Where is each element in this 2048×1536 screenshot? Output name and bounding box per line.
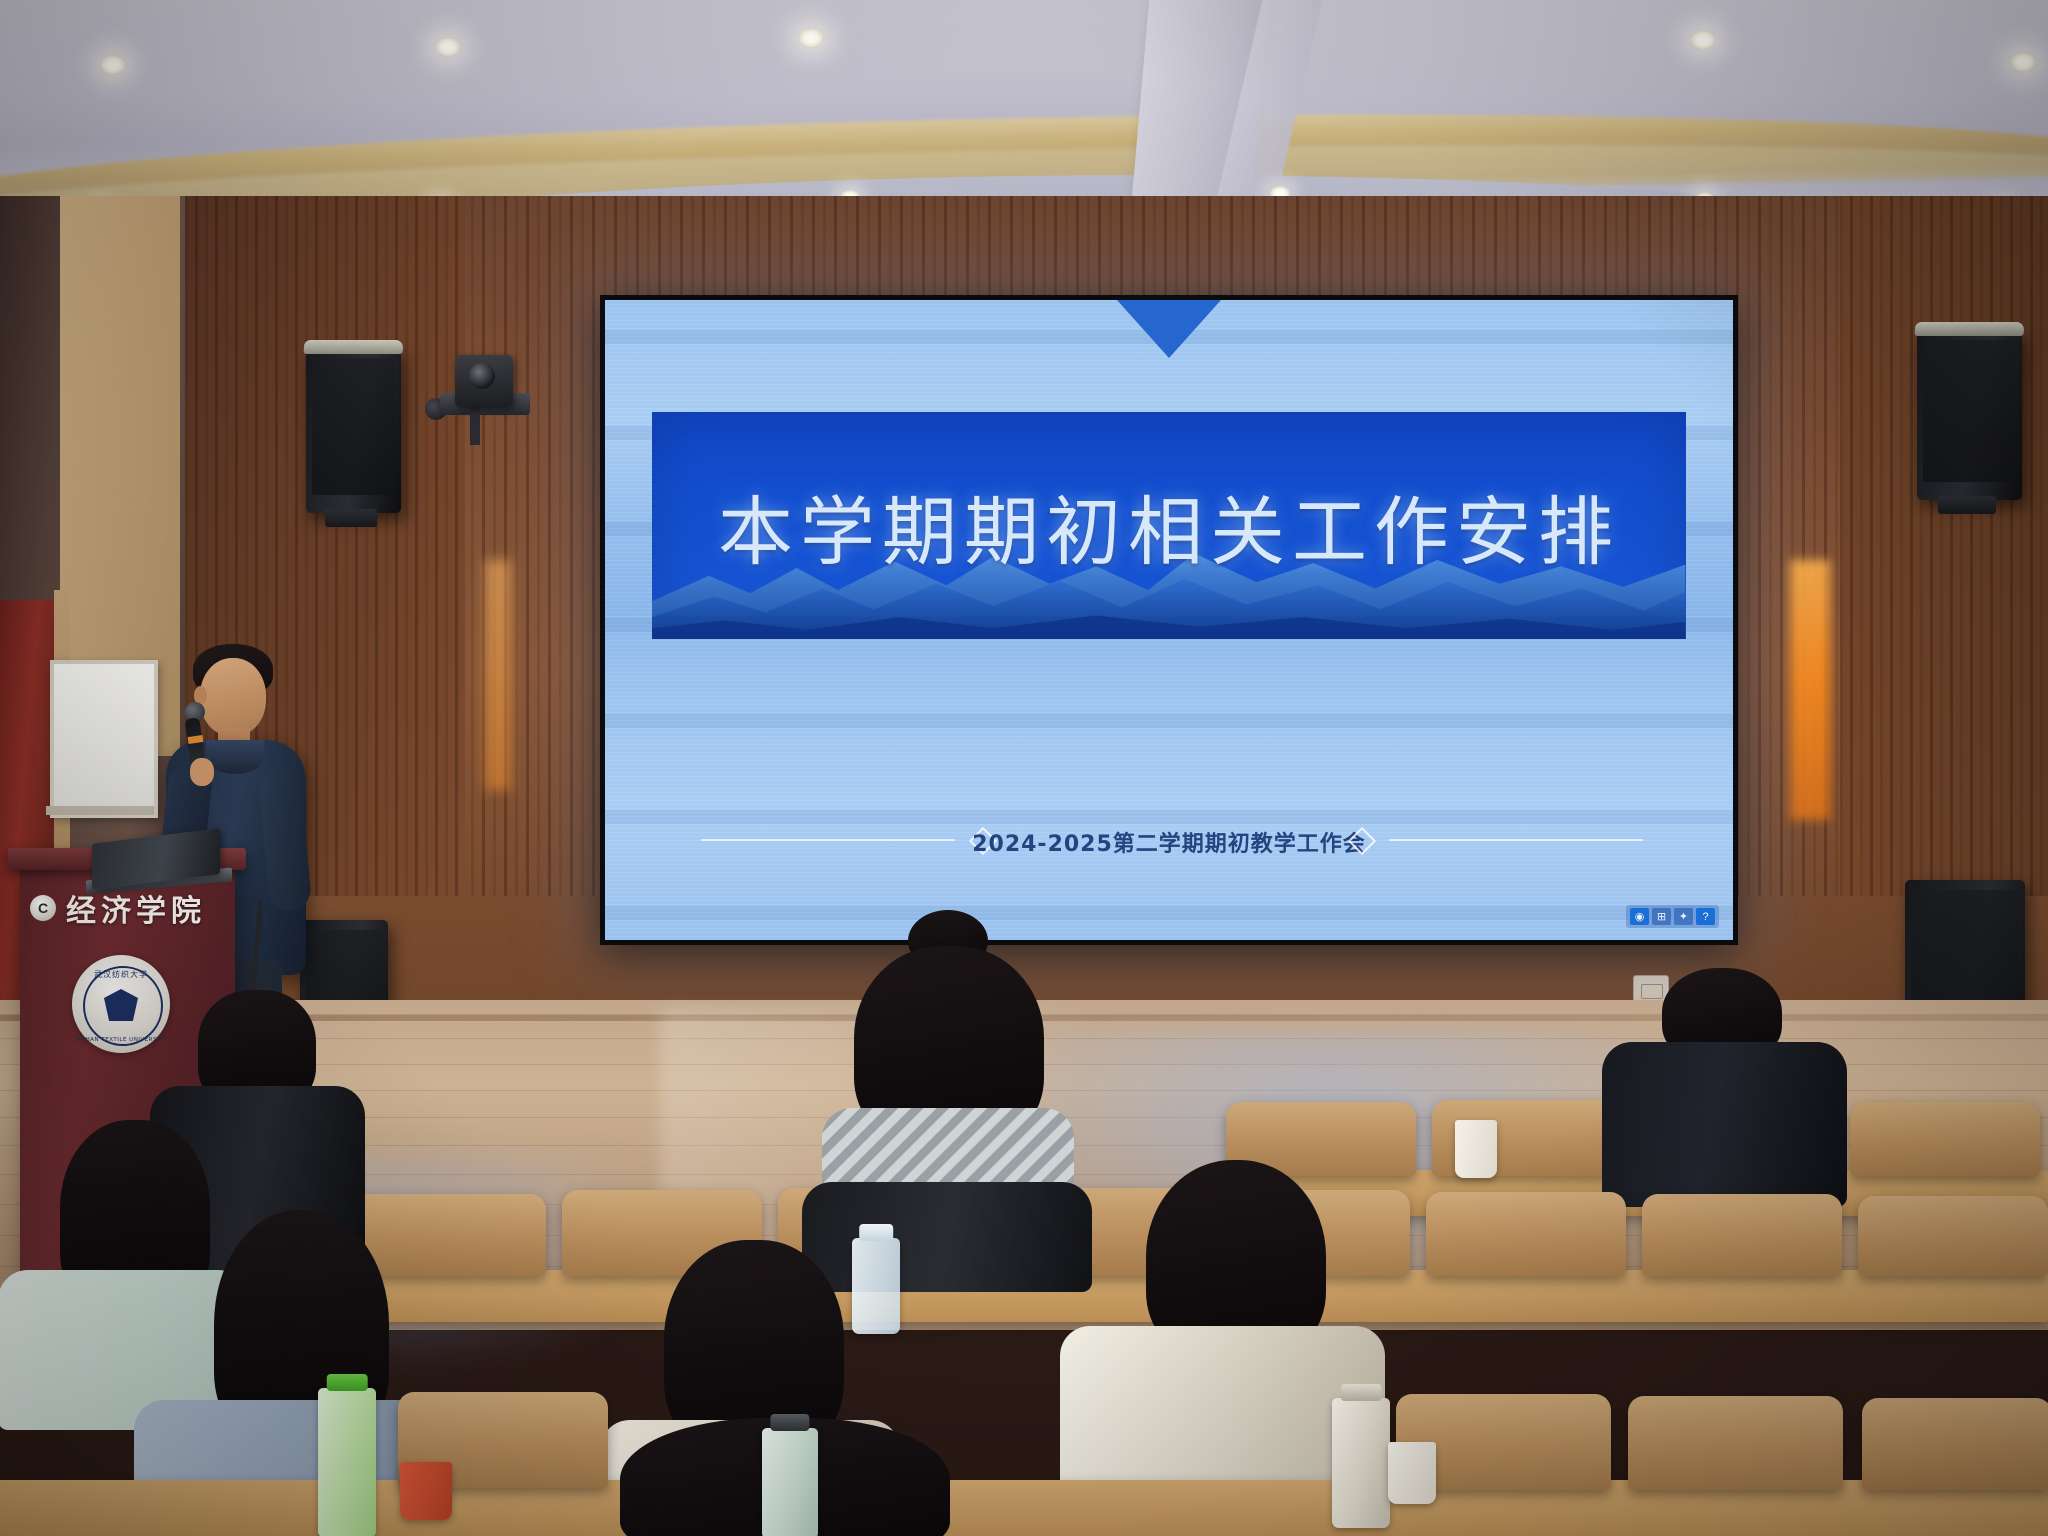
- wall-slat: [581, 196, 584, 896]
- zoom-tool-icon[interactable]: ✦: [1674, 908, 1693, 925]
- attendee-suit-jacket: [1602, 1042, 1847, 1207]
- presenter-collar: [206, 740, 264, 774]
- screen-scanline: [605, 860, 1733, 861]
- wall-slat: [1840, 196, 1843, 896]
- screen-scanline: [605, 880, 1733, 881]
- wall-slat: [1910, 196, 1913, 896]
- presenter-head: [200, 658, 266, 736]
- screen-scanline: [605, 360, 1733, 361]
- auditorium-photo: 本学期期初相关工作安排 2024-2025第二学期期初教学工作会 ◉ ⊞ ✦ ?: [0, 0, 2048, 1536]
- bottle-cap: [327, 1374, 368, 1391]
- screen-scanline: [605, 368, 1733, 369]
- screen-scanline: [605, 408, 1733, 409]
- screen-scanline: [605, 704, 1733, 705]
- screen-scanline: [605, 780, 1733, 781]
- wall-slat: [482, 196, 485, 896]
- screen-scanline: [605, 864, 1733, 865]
- whiteboard: [50, 660, 158, 818]
- speaker-top-plate: [1915, 322, 2025, 336]
- screen-scanline: [605, 740, 1733, 741]
- screen-scanline: [605, 372, 1733, 373]
- screen-scanline: [605, 700, 1733, 701]
- wall-slat: [2040, 196, 2043, 896]
- wall-slat: [570, 196, 573, 896]
- chair[interactable]: [1628, 1396, 1843, 1490]
- wall-slat: [1920, 196, 1923, 896]
- slide-title-card: 本学期期初相关工作安排: [652, 412, 1685, 639]
- screen-scanline: [605, 744, 1733, 745]
- wall-slat: [2000, 196, 2003, 896]
- screen-scanline: [605, 680, 1733, 681]
- wall-slat: [1880, 196, 1883, 896]
- screen-scanline: [605, 768, 1733, 769]
- screen-scanline: [605, 772, 1733, 773]
- screen-scanline: [605, 756, 1733, 757]
- screen-scanline: [605, 364, 1733, 365]
- wall-slat: [1940, 196, 1943, 896]
- white-thermos[interactable]: [1332, 1398, 1390, 1528]
- wall-slat: [1769, 196, 1772, 896]
- screen-scanline: [605, 392, 1733, 393]
- audience-seating: [0, 1180, 2048, 1536]
- downlight-icon: [100, 55, 126, 75]
- screen-scanline: [605, 656, 1733, 657]
- screen-scanline: [605, 904, 1733, 905]
- wall-slat: [1930, 196, 1933, 896]
- seal-top-text: 武汉纺织大学: [72, 969, 170, 980]
- wall-slat: [1890, 196, 1893, 896]
- screen-scanline: [605, 404, 1733, 405]
- screen-scanline: [605, 684, 1733, 685]
- screen-scanline: [605, 932, 1733, 933]
- screen-scanline: [605, 712, 1733, 713]
- speaker-bracket: [1938, 496, 1996, 514]
- wall-slat: [375, 196, 378, 896]
- chair[interactable]: [1642, 1194, 1842, 1276]
- screen-scanline: [605, 876, 1733, 877]
- bottle-cap: [859, 1224, 893, 1241]
- paper-cup[interactable]: [1455, 1120, 1497, 1178]
- screen-band: [605, 810, 1733, 824]
- screen-scanline: [605, 804, 1733, 805]
- projection-screen[interactable]: 本学期期初相关工作安排 2024-2025第二学期期初教学工作会 ◉ ⊞ ✦ ?: [605, 300, 1733, 940]
- wall-slat: [425, 196, 428, 896]
- wall-slat: [315, 196, 318, 896]
- screen-scanline: [605, 668, 1733, 669]
- wall-slat: [1950, 196, 1953, 896]
- speaker-top-plate: [304, 340, 404, 354]
- screen-scanline: [605, 640, 1733, 641]
- screen-scanline: [605, 896, 1733, 897]
- slide-notch-shape: [1117, 300, 1221, 358]
- screen-scanline: [605, 784, 1733, 785]
- wall-slat: [335, 196, 338, 896]
- screen-scanline: [605, 660, 1733, 661]
- wall-slat: [365, 196, 368, 896]
- screen-scanline: [605, 800, 1733, 801]
- screen-scanline: [605, 888, 1733, 889]
- wall-speaker-right: [1917, 330, 2022, 500]
- speaker-bracket: [325, 509, 377, 527]
- wall-slat: [1860, 196, 1863, 896]
- screen-scanline: [605, 664, 1733, 665]
- downlight-icon: [1690, 30, 1716, 50]
- wall-slat: [1980, 196, 1983, 896]
- screen-scanline: [605, 380, 1733, 381]
- screen-band: [605, 714, 1733, 728]
- wall-slat: [445, 196, 448, 896]
- clear-water-bottle[interactable]: [852, 1238, 900, 1334]
- screen-scanline: [605, 388, 1733, 389]
- screen-scanline: [605, 708, 1733, 709]
- wall-slat: [405, 196, 408, 896]
- wall-speaker-left: [306, 348, 401, 513]
- speaker-grill: [1923, 340, 2016, 482]
- mint-thermos[interactable]: [762, 1428, 818, 1536]
- screen-scanline: [605, 788, 1733, 789]
- chair[interactable]: [1862, 1398, 2048, 1490]
- wall-slat: [471, 196, 474, 896]
- wall-slat: [526, 196, 529, 896]
- screen-scanline: [605, 764, 1733, 765]
- wall-slat: [1758, 196, 1761, 896]
- screen-scanline: [605, 796, 1733, 797]
- wall-slat: [592, 196, 595, 896]
- wall-slat: [504, 196, 507, 896]
- wall-slat: [1900, 196, 1903, 896]
- chair[interactable]: [1850, 1102, 2040, 1176]
- wall-slat: [395, 196, 398, 896]
- screen-scanline: [605, 872, 1733, 873]
- pen-tool-icon[interactable]: ◉: [1630, 908, 1649, 925]
- wall-slat: [559, 196, 562, 896]
- whiteboard-tray: [46, 806, 154, 815]
- screen-scanline: [605, 644, 1733, 645]
- screen-scanline: [605, 892, 1733, 893]
- wall-slat: [385, 196, 388, 896]
- thermos-cap: [770, 1414, 809, 1431]
- warm-wall-glow-left: [485, 560, 511, 790]
- screen-scanline: [605, 748, 1733, 749]
- screen-scanline: [605, 808, 1733, 809]
- podium-institution-label: 经济学院: [66, 886, 206, 930]
- screen-scanline: [605, 920, 1733, 921]
- wall-slat: [1970, 196, 1973, 896]
- wall-slat: [355, 196, 358, 896]
- screen-scanline: [605, 376, 1733, 377]
- screen-scanline: [605, 928, 1733, 929]
- thermos-cap: [1341, 1384, 1382, 1401]
- ceiling-camera-icon: [455, 355, 513, 407]
- wall-slat: [1835, 196, 1838, 896]
- attendee-man-suit: [1600, 968, 1860, 1198]
- warm-wall-glow: [1790, 560, 1830, 820]
- screen-scanline: [605, 776, 1733, 777]
- screen-scanline: [605, 672, 1733, 673]
- wall-slat: [548, 196, 551, 896]
- slide-grid-icon[interactable]: ⊞: [1652, 908, 1671, 925]
- wall-slat: [435, 196, 438, 896]
- downlight-icon: [2010, 52, 2036, 72]
- screen-scanline: [605, 384, 1733, 385]
- chair[interactable]: [1858, 1196, 2048, 1276]
- attendee-woman-bun: [808, 910, 1088, 1260]
- green-tea-bottle[interactable]: [318, 1388, 376, 1536]
- screen-scanline: [605, 400, 1733, 401]
- screen-scanline: [605, 728, 1733, 729]
- screen-scanline: [605, 868, 1733, 869]
- wall-slat: [1747, 196, 1750, 896]
- screen-scanline: [605, 824, 1733, 825]
- screen-scanline: [605, 692, 1733, 693]
- screen-scanline: [605, 760, 1733, 761]
- screen-scanline: [605, 732, 1733, 733]
- more-options-icon[interactable]: ?: [1696, 908, 1715, 925]
- wall-slat: [345, 196, 348, 896]
- downlight-icon: [435, 37, 461, 57]
- screen-scanline: [605, 688, 1733, 689]
- screen-scanline: [605, 648, 1733, 649]
- downlight-icon: [798, 28, 824, 48]
- wall-slat: [415, 196, 418, 896]
- slide-footer: 2024-2025第二学期期初教学工作会: [605, 826, 1733, 858]
- projection-screen-frame: 本学期期初相关工作安排 2024-2025第二学期期初教学工作会 ◉ ⊞ ✦ ?: [600, 295, 1738, 945]
- wall-slat: [1780, 196, 1783, 896]
- screen-scanline: [605, 936, 1733, 937]
- footer-rule-right: [1389, 839, 1643, 841]
- screen-scanline: [605, 752, 1733, 753]
- wall-slat: [2010, 196, 2013, 896]
- wall-right-dark-panel: [1840, 196, 2048, 896]
- screen-scanline: [605, 652, 1733, 653]
- screen-scanline: [605, 676, 1733, 677]
- screen-scanline: [605, 900, 1733, 901]
- screen-scanline: [605, 884, 1733, 885]
- wall-slat: [2030, 196, 2033, 896]
- paper-cup-front[interactable]: [1388, 1442, 1436, 1504]
- wall-slat: [1960, 196, 1963, 896]
- presenter-toolbar[interactable]: ◉ ⊞ ✦ ?: [1626, 905, 1719, 928]
- wall-slat: [325, 196, 328, 896]
- wall-slat: [455, 196, 458, 896]
- screen-scanline: [605, 696, 1733, 697]
- red-cup[interactable]: [400, 1462, 452, 1520]
- wall-slat: [537, 196, 540, 896]
- wall-slat: [493, 196, 496, 896]
- wall-slat: [1850, 196, 1853, 896]
- school-emblem-icon: C: [30, 895, 56, 921]
- chair[interactable]: [1426, 1192, 1626, 1276]
- screen-scanline: [605, 924, 1733, 925]
- screen-band: [605, 906, 1733, 920]
- presenter-hand: [190, 758, 214, 786]
- speaker-grill: [312, 358, 395, 495]
- screen-scanline: [605, 736, 1733, 737]
- wall-slat: [2020, 196, 2023, 896]
- wall-slat: [1990, 196, 1993, 896]
- slide-title: 本学期期初相关工作安排: [652, 471, 1685, 580]
- screen-scanline: [605, 792, 1733, 793]
- podium-nameplate: C 经济学院: [30, 886, 206, 930]
- wall-slat: [515, 196, 518, 896]
- wall-slat: [1870, 196, 1873, 896]
- screen-scanline: [605, 396, 1733, 397]
